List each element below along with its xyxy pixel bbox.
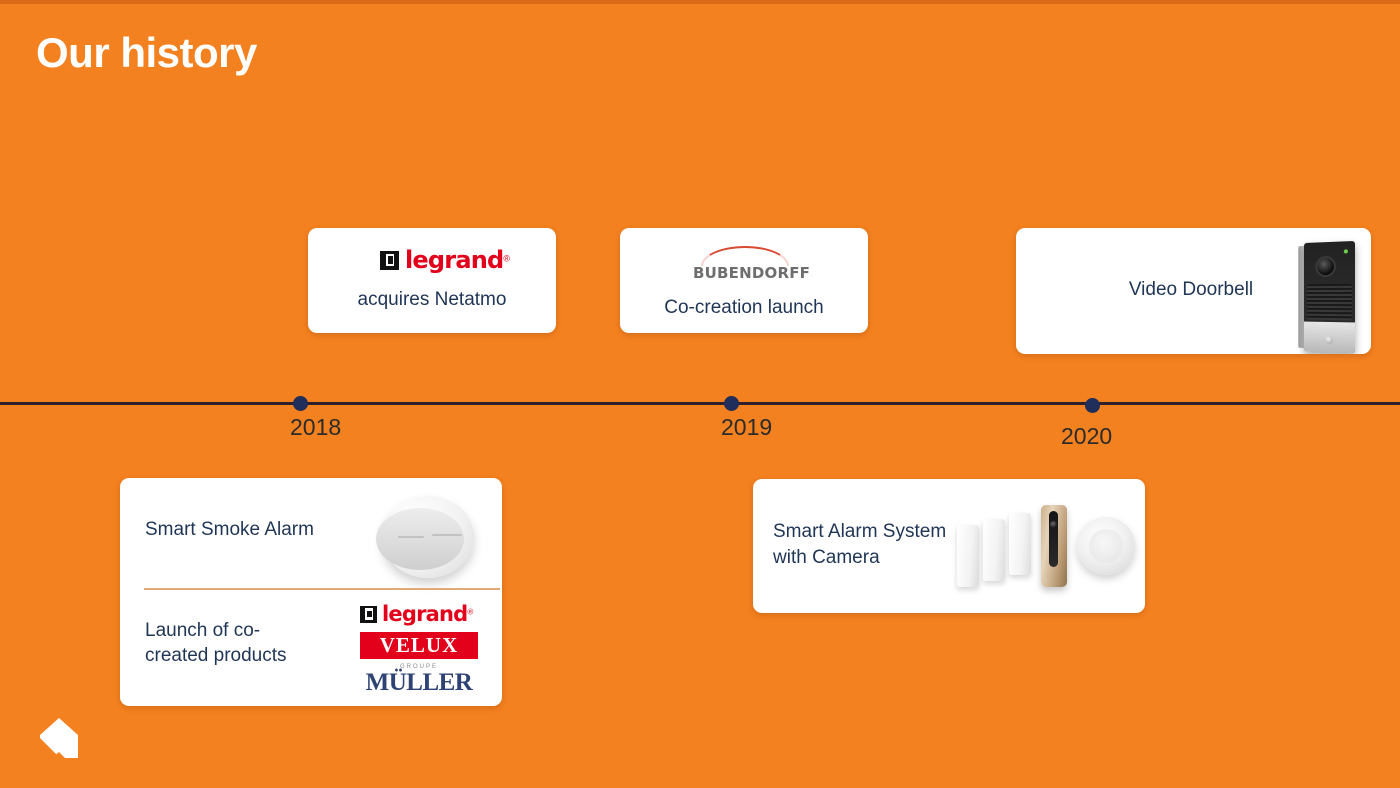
timeline-year-2018: 2018 (290, 414, 341, 441)
timeline-year-2019: 2019 (721, 414, 772, 441)
door-sensor-icon (957, 525, 979, 587)
slide-canvas: Our history 2018 2019 2020 legrand® acqu… (0, 0, 1400, 788)
card-caption-line1: Smart Alarm System (773, 521, 946, 542)
doorbell-button-icon (1325, 336, 1333, 344)
legrand-mark-icon (360, 606, 377, 623)
speaker-grille (1307, 284, 1352, 321)
door-sensor-icon (1009, 513, 1031, 575)
timeline-dot-2018[interactable] (293, 396, 308, 411)
bubendorff-arc-icon (701, 246, 789, 266)
bubendorff-logo: BUBENDORFF (693, 246, 798, 280)
velux-logo: VELUX (360, 632, 478, 659)
card-caption-line2: with Camera (773, 547, 880, 568)
video-doorbell-device-image (1304, 241, 1355, 353)
legrand-registered-mark: ® (503, 254, 510, 264)
legrand-wordmark: legrand (382, 602, 467, 626)
muller-logo: GROUPE MÜLLER (358, 664, 480, 695)
card-caption: Launch of co-created products (145, 618, 320, 668)
card-caption: Smart Alarm System with Camera (773, 519, 973, 570)
card-legrand-acquires-netatmo[interactable]: legrand® acquires Netatmo (308, 228, 556, 333)
timeline-dot-2020[interactable] (1085, 398, 1100, 413)
card-caption: Video Doorbell (1096, 278, 1286, 303)
indoor-camera-icon (1041, 505, 1067, 587)
status-led-icon (1344, 249, 1348, 253)
legrand-logo: legrand® (360, 602, 473, 626)
bubendorff-wordmark: BUBENDORFF (693, 264, 798, 282)
muller-wordmark: MÜLLER (358, 670, 480, 695)
velux-wordmark: VELUX (380, 633, 459, 658)
legrand-mark-icon (380, 251, 399, 270)
card-smart-alarm-system[interactable]: Smart Alarm System with Camera (753, 479, 1145, 613)
card-video-doorbell[interactable]: Video Doorbell (1016, 228, 1371, 354)
card-caption: acquires Netatmo (308, 288, 556, 313)
card-2018-products-stack[interactable]: Smart Smoke Alarm Launch of co-created p… (120, 478, 502, 706)
top-accent-strip (0, 0, 1400, 4)
siren-disc-icon (1077, 517, 1135, 575)
card-caption: Co-creation launch (620, 296, 868, 321)
timeline-dot-2019[interactable] (724, 396, 739, 411)
legrand-registered-mark: ® (467, 608, 473, 617)
legrand-wordmark: legrand (405, 246, 503, 274)
legrand-logo: legrand® (380, 246, 510, 274)
alarm-system-devices-image (945, 501, 1125, 591)
timeline-year-2020: 2020 (1061, 423, 1112, 450)
card-divider (144, 588, 500, 590)
camera-lens-icon (1315, 256, 1336, 277)
smoke-alarm-device-image (374, 486, 484, 586)
door-sensor-icon (983, 519, 1005, 581)
netatmo-logo (38, 716, 80, 760)
timeline-axis (0, 402, 1400, 405)
page-title: Our history (36, 30, 257, 76)
card-caption: Smart Smoke Alarm (145, 518, 314, 543)
